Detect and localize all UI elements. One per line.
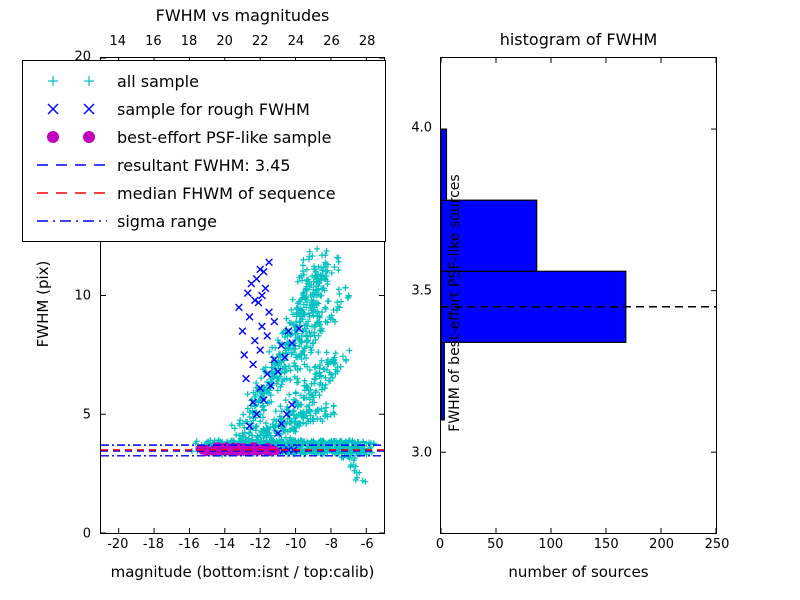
- histogram-bar: [441, 129, 447, 200]
- legend-symbol-dashdot-icon: [31, 208, 117, 234]
- histogram-bar: [441, 342, 444, 420]
- right-histogram-plot: [440, 57, 717, 534]
- legend-item: sample for rough FWHM: [31, 95, 377, 123]
- right-y-axis-label: FWHM of best-effort PSF-like sources: [447, 153, 463, 453]
- axis-tick-label: 5: [83, 407, 91, 422]
- axis-tick-label: 200: [649, 537, 674, 552]
- left-x-axis-label: magnitude (bottom:isnt / top:calib): [60, 563, 425, 581]
- legend-symbol-dot-icon: [31, 124, 117, 150]
- axis-tick-label: 250: [705, 537, 730, 552]
- axis-tick-label: 3.0: [411, 445, 432, 460]
- axis-tick-label: -14: [214, 537, 235, 552]
- axis-tick-label: 100: [538, 537, 563, 552]
- histogram-bars: [441, 129, 626, 420]
- left-chart-title: FWHM vs magnitudes: [100, 6, 385, 25]
- axis-tick-label: 28: [359, 34, 376, 49]
- legend-label: best-effort PSF-like sample: [117, 128, 331, 147]
- legend-symbol-cross-icon: [31, 96, 117, 122]
- legend-item: resultant FWHM: 3.45: [31, 151, 377, 179]
- legend-item: best-effort PSF-like sample: [31, 123, 377, 151]
- axis-tick-label: -12: [250, 537, 271, 552]
- legend-symbol-dashed-icon: [31, 152, 117, 178]
- right-x-axis-ticks: 050100150200250: [440, 537, 717, 559]
- axis-tick-label: 150: [594, 537, 619, 552]
- left-top-axis-ticks: 1416182022242628: [100, 30, 385, 52]
- legend-item: sigma range: [31, 207, 377, 235]
- axis-tick-label: -20: [107, 537, 128, 552]
- axis-tick-label: 14: [110, 34, 127, 49]
- axis-tick-label: 22: [252, 34, 269, 49]
- axis-tick-label: 26: [323, 34, 340, 49]
- left-bottom-axis-ticks: -20-18-16-14-12-10-8-6: [100, 537, 385, 559]
- legend-label: sigma range: [117, 212, 217, 231]
- axis-tick-label: -6: [361, 537, 374, 552]
- left-y-axis-label: FWHM (pix): [34, 224, 52, 384]
- axis-tick-label: 20: [216, 34, 233, 49]
- right-chart-title: histogram of FWHM: [440, 30, 717, 49]
- right-histogram-canvas: [441, 58, 716, 533]
- axis-tick-label: 50: [487, 537, 504, 552]
- legend-label: all sample: [117, 72, 199, 91]
- right-x-axis-label: number of sources: [440, 563, 717, 581]
- legend-label: sample for rough FWHM: [117, 100, 310, 119]
- axis-tick-label: 18: [181, 34, 198, 49]
- figure-root: FWHM vs magnitudes 1416182022242628 0510…: [0, 0, 800, 600]
- axis-tick-label: 24: [288, 34, 305, 49]
- axis-tick-label: -16: [178, 537, 199, 552]
- legend-symbol-plus-icon: [31, 68, 117, 94]
- legend-label: resultant FWHM: 3.45: [117, 156, 291, 175]
- axis-tick-label: 0: [436, 537, 444, 552]
- axis-tick-label: 4.0: [411, 121, 432, 136]
- axis-tick-label: 0: [83, 527, 91, 542]
- axis-tick-label: 3.5: [411, 283, 432, 298]
- axis-tick-label: 16: [145, 34, 162, 49]
- legend-item: all sample: [31, 67, 377, 95]
- right-y-axis-ticks: 3.03.54.0: [398, 57, 436, 534]
- axis-tick-label: -8: [325, 537, 338, 552]
- legend-label: median FHWM of sequence: [117, 184, 336, 203]
- legend-item: median FHWM of sequence: [31, 179, 377, 207]
- legend-box: all samplesample for rough FWHMbest-effo…: [22, 60, 386, 242]
- axis-tick-label: 10: [74, 288, 91, 303]
- axis-tick-label: -10: [285, 537, 306, 552]
- legend-symbol-dashed-icon: [31, 180, 117, 206]
- axis-tick-label: -18: [143, 537, 164, 552]
